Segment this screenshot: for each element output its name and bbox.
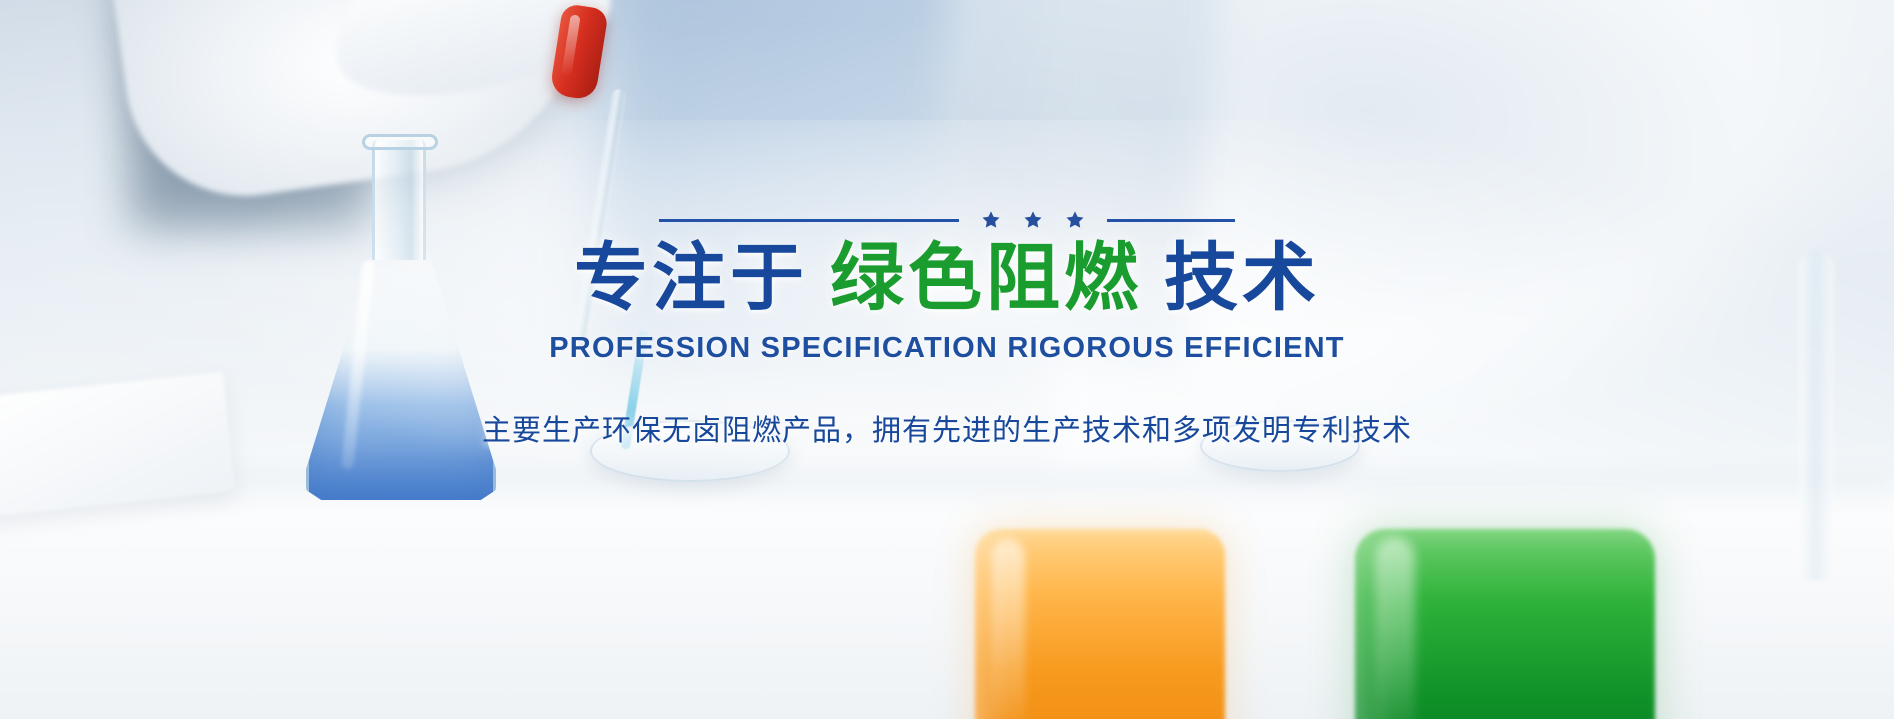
hero-banner: 专注于绿色阻燃技术 PROFESSION SPECIFICATION RIGOR… xyxy=(0,0,1894,719)
headline: 专注于绿色阻燃技术 xyxy=(574,238,1320,318)
decorative-divider xyxy=(657,208,1237,232)
headline-part-2: 绿色阻燃 xyxy=(830,236,1142,319)
subtitle-english: PROFESSION SPECIFICATION RIGOROUS EFFICI… xyxy=(549,332,1344,365)
star-group xyxy=(959,210,1107,230)
headline-part-1: 专注于 xyxy=(574,236,808,319)
divider-rule-left xyxy=(659,219,959,222)
star-icon xyxy=(981,210,1001,230)
banner-content: 专注于绿色阻燃技术 PROFESSION SPECIFICATION RIGOR… xyxy=(0,0,1894,719)
divider-rule-right xyxy=(1107,219,1235,222)
description-chinese: 主要生产环保无卤阻燃产品，拥有先进的生产技术和多项发明专利技术 xyxy=(482,407,1412,449)
star-icon xyxy=(1065,210,1085,230)
headline-part-3: 技术 xyxy=(1164,236,1320,319)
star-icon xyxy=(1023,210,1043,230)
